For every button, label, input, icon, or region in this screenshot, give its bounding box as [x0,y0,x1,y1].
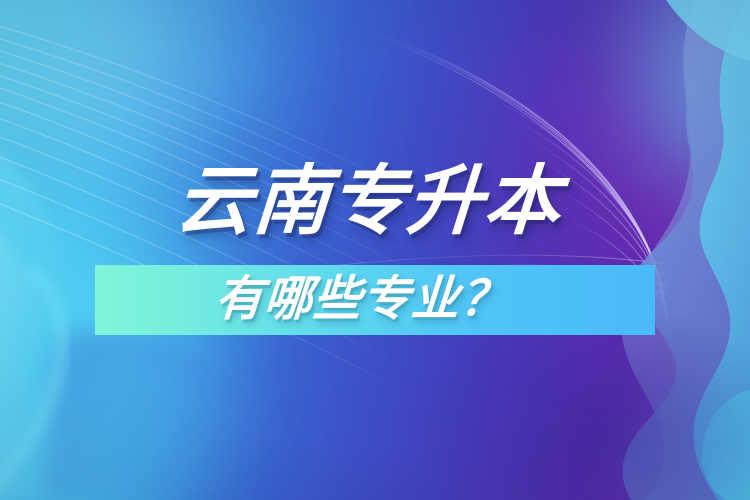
promo-banner: 云南专升本 有哪些专业？ [0,0,750,500]
subtitle-text: 有哪些专业？ [213,272,511,328]
vignette-overlay [0,0,750,500]
page-title: 云南专升本 [173,160,564,244]
